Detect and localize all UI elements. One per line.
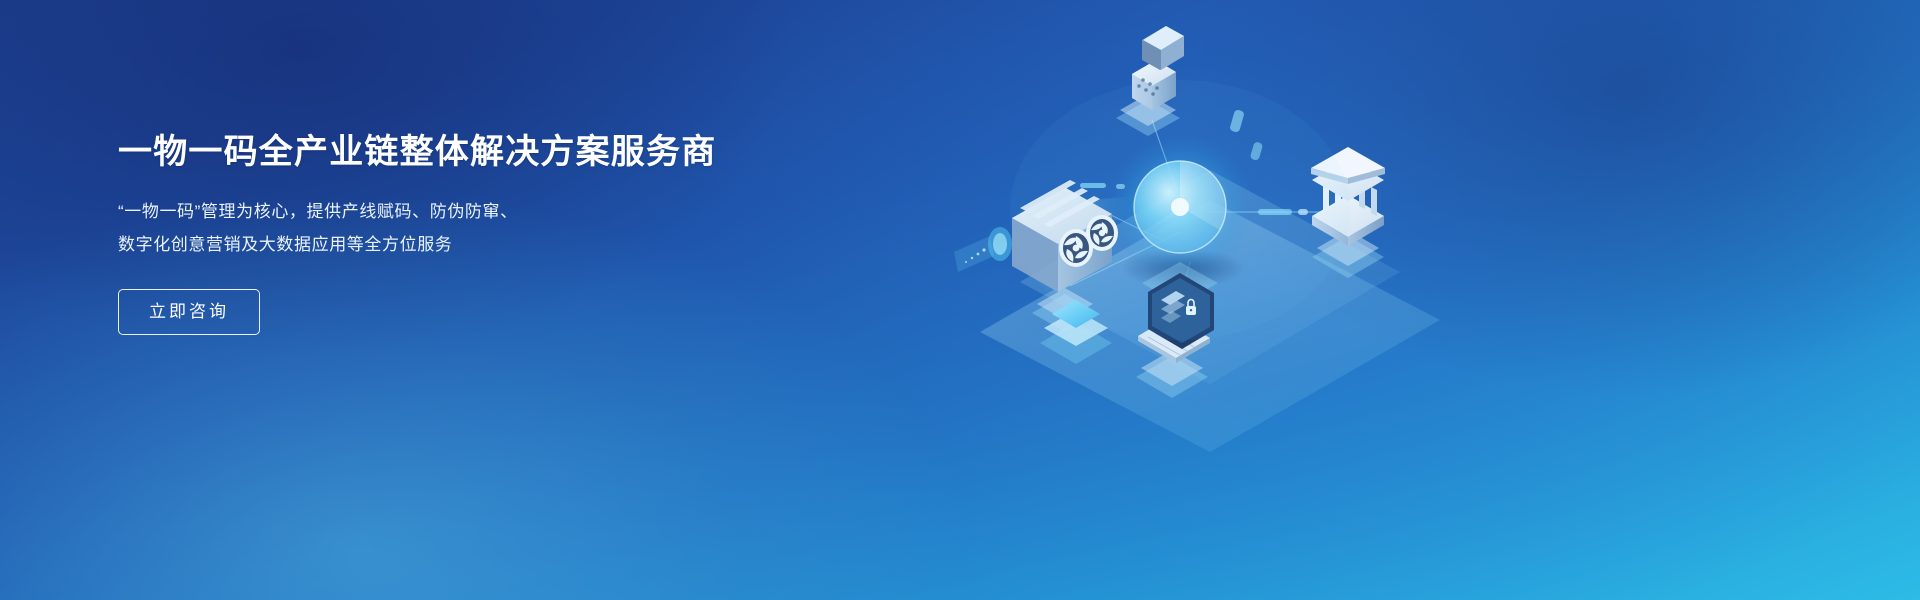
hero-banner: 一物一码全产业链整体解决方案服务商 “一物一码”管理为核心，提供产线赋码、防伪防… xyxy=(0,0,1920,600)
hero-subtitle: “一物一码”管理为核心，提供产线赋码、防伪防窜、 数字化创意营销及大数据应用等全… xyxy=(118,195,738,261)
consult-now-button[interactable]: 立即咨询 xyxy=(118,289,260,335)
hero-subtitle-line-2: 数字化创意营销及大数据应用等全方位服务 xyxy=(118,228,738,261)
hero-copy-block: 一物一码全产业链整体解决方案服务商 “一物一码”管理为核心，提供产线赋码、防伪防… xyxy=(118,132,738,335)
sensor-emitter xyxy=(954,227,1012,272)
hero-subtitle-line-1: “一物一码”管理为核心，提供产线赋码、防伪防窜、 xyxy=(118,195,738,228)
isometric-network-illustration xyxy=(880,0,1580,600)
hero-headline: 一物一码全产业链整体解决方案服务商 xyxy=(118,132,738,173)
